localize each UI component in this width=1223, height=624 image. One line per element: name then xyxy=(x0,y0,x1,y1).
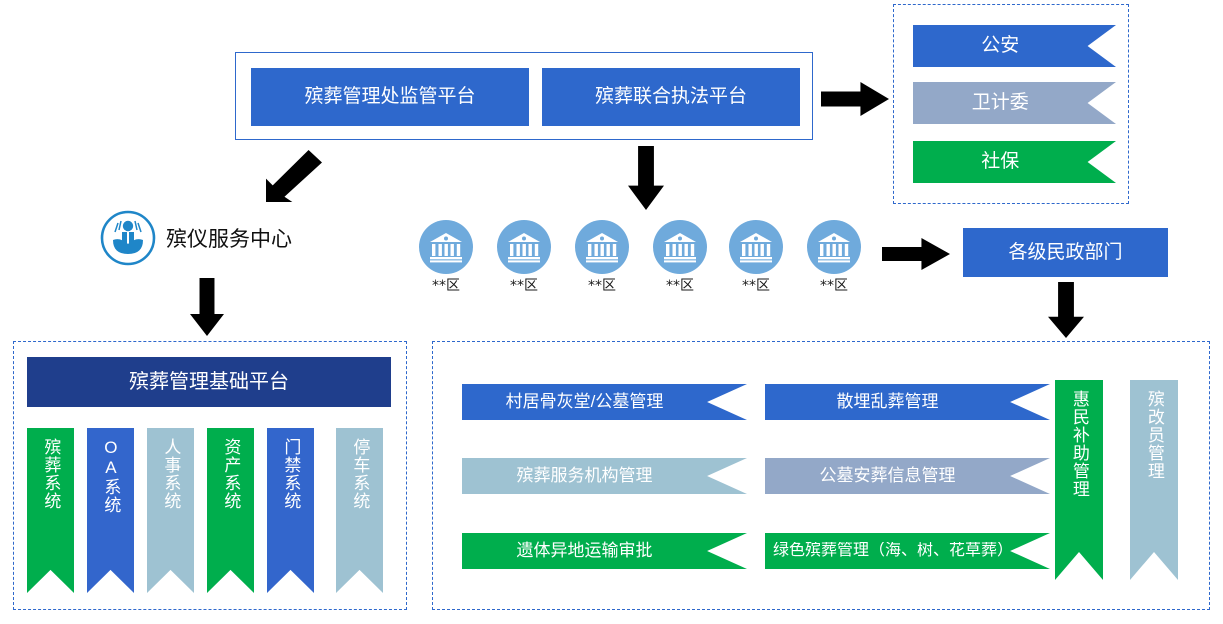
district-label-3: **区 xyxy=(653,275,707,295)
bank-building-icon xyxy=(575,220,629,274)
module-reform-officer-banner[interactable]: 殡改员管理 xyxy=(1130,380,1178,580)
arrow-service-center-to-base-platform-icon xyxy=(190,278,224,336)
module-scattered-burial-label: 散埋乱葬管理 xyxy=(765,393,1012,412)
module-village-ossuary-banner[interactable]: 村居骨灰堂/公墓管理 xyxy=(462,384,747,420)
module-funeral-agency-banner[interactable]: 殡葬服务机构管理 xyxy=(462,458,747,494)
system-label-parking: 停车系统 xyxy=(351,428,369,510)
district-label-1: **区 xyxy=(497,275,551,295)
diagram-canvas: 殡葬管理处监管平台 殡葬联合执法平台 公安 卫计委 社保 xyxy=(0,0,1223,624)
module-cemetery-info-banner[interactable]: 公墓安葬信息管理 xyxy=(765,458,1050,494)
district-item-3[interactable]: **区 xyxy=(653,220,707,295)
module-scattered-burial-banner[interactable]: 散埋乱葬管理 xyxy=(765,384,1050,420)
civil-affairs-box[interactable]: 各级民政部门 xyxy=(963,228,1168,277)
system-label-asset: 资产系统 xyxy=(222,428,240,510)
district-item-0[interactable]: **区 xyxy=(419,220,473,295)
agency-public-security-label: 公安 xyxy=(913,36,1090,57)
district-label-2: **区 xyxy=(575,275,629,295)
module-reform-officer-label: 殡改员管理 xyxy=(1145,380,1163,480)
service-center-group[interactable]: 殡仪服务中心 xyxy=(100,210,292,266)
system-label-hr: 人事系统 xyxy=(162,428,180,510)
civil-affairs-label: 各级民政部门 xyxy=(1008,242,1122,264)
module-subsidy-banner[interactable]: 惠民补助管理 xyxy=(1055,380,1103,580)
district-item-1[interactable]: **区 xyxy=(497,220,551,295)
bank-building-icon xyxy=(653,220,707,274)
arrow-top-to-districts-icon xyxy=(628,146,664,210)
district-label-0: **区 xyxy=(419,275,473,295)
system-banner-asset[interactable]: 资产系统 xyxy=(207,428,254,593)
module-body-transport-label: 遗体异地运输审批 xyxy=(462,542,709,561)
module-green-burial-label: 绿色殡葬管理（海、树、花草葬） xyxy=(765,542,1020,560)
arrow-districts-to-civil-affairs-icon xyxy=(882,238,950,270)
arrow-top-to-agencies-icon xyxy=(821,82,889,116)
platform-supervision-label: 殡葬管理处监管平台 xyxy=(304,86,475,108)
module-green-burial-banner[interactable]: 绿色殡葬管理（海、树、花草葬） xyxy=(765,533,1050,569)
module-subsidy-label: 惠民补助管理 xyxy=(1070,380,1088,498)
agency-social-security-banner[interactable]: 社保 xyxy=(913,141,1116,183)
agency-health-planning-banner[interactable]: 卫计委 xyxy=(913,82,1116,124)
bank-building-icon xyxy=(807,220,861,274)
system-banner-funeral[interactable]: 殡葬系统 xyxy=(27,428,74,593)
bank-building-icon xyxy=(497,220,551,274)
agency-health-planning-label: 卫计委 xyxy=(913,93,1090,114)
district-item-4[interactable]: **区 xyxy=(729,220,783,295)
district-label-5: **区 xyxy=(807,275,861,295)
arrow-top-to-service-center-icon xyxy=(266,150,322,202)
system-banner-parking[interactable]: 停车系统 xyxy=(336,428,383,593)
system-label-funeral: 殡葬系统 xyxy=(42,428,60,510)
bank-building-icon xyxy=(419,220,473,274)
funeral-service-logo-icon xyxy=(100,210,156,266)
base-platform-header-label: 殡葬管理基础平台 xyxy=(129,371,289,394)
platform-supervision-box[interactable]: 殡葬管理处监管平台 xyxy=(251,68,529,126)
arrow-civil-affairs-to-business-icon xyxy=(1048,282,1084,338)
system-banner-access-control[interactable]: 门禁系统 xyxy=(267,428,314,593)
district-item-5[interactable]: **区 xyxy=(807,220,861,295)
system-banner-hr[interactable]: 人事系统 xyxy=(147,428,194,593)
system-banner-oa[interactable]: OA系统 xyxy=(87,428,134,593)
module-funeral-agency-label: 殡葬服务机构管理 xyxy=(462,467,709,486)
service-center-label: 殡仪服务中心 xyxy=(166,223,292,253)
base-platform-header[interactable]: 殡葬管理基础平台 xyxy=(27,357,391,407)
bank-building-icon xyxy=(729,220,783,274)
district-label-4: **区 xyxy=(729,275,783,295)
agency-public-security-banner[interactable]: 公安 xyxy=(913,25,1116,67)
system-label-access-control: 门禁系统 xyxy=(282,428,300,510)
agency-social-security-label: 社保 xyxy=(913,152,1090,173)
module-cemetery-info-label: 公墓安葬信息管理 xyxy=(765,467,1012,486)
module-body-transport-banner[interactable]: 遗体异地运输审批 xyxy=(462,533,747,569)
platform-joint-enforcement-label: 殡葬联合执法平台 xyxy=(595,86,747,108)
district-item-2[interactable]: **区 xyxy=(575,220,629,295)
module-village-ossuary-label: 村居骨灰堂/公墓管理 xyxy=(462,393,709,412)
platform-joint-enforcement-box[interactable]: 殡葬联合执法平台 xyxy=(542,68,800,126)
system-label-oa: OA系统 xyxy=(102,428,120,514)
